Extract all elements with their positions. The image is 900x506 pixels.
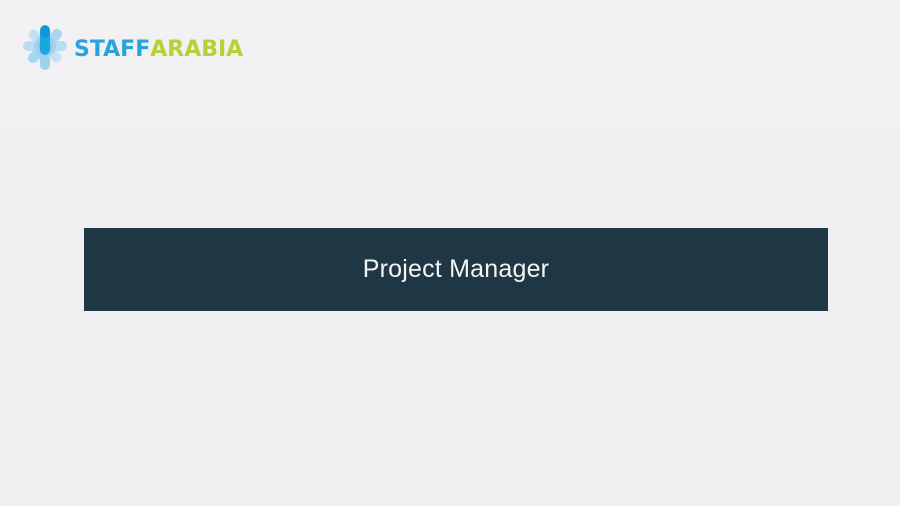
page-title: Project Manager bbox=[363, 255, 549, 284]
brand-wordmark-arabia: arabia bbox=[150, 31, 243, 62]
title-banner: Project Manager bbox=[84, 228, 828, 311]
brand-wordmark-staff: staff bbox=[74, 31, 150, 62]
brand-wordmark: staff arabia bbox=[74, 31, 243, 62]
slide-canvas: staff arabia Project Manager bbox=[0, 0, 900, 506]
brand-logo[interactable]: staff arabia bbox=[22, 20, 243, 72]
snowflake-icon bbox=[22, 21, 68, 71]
